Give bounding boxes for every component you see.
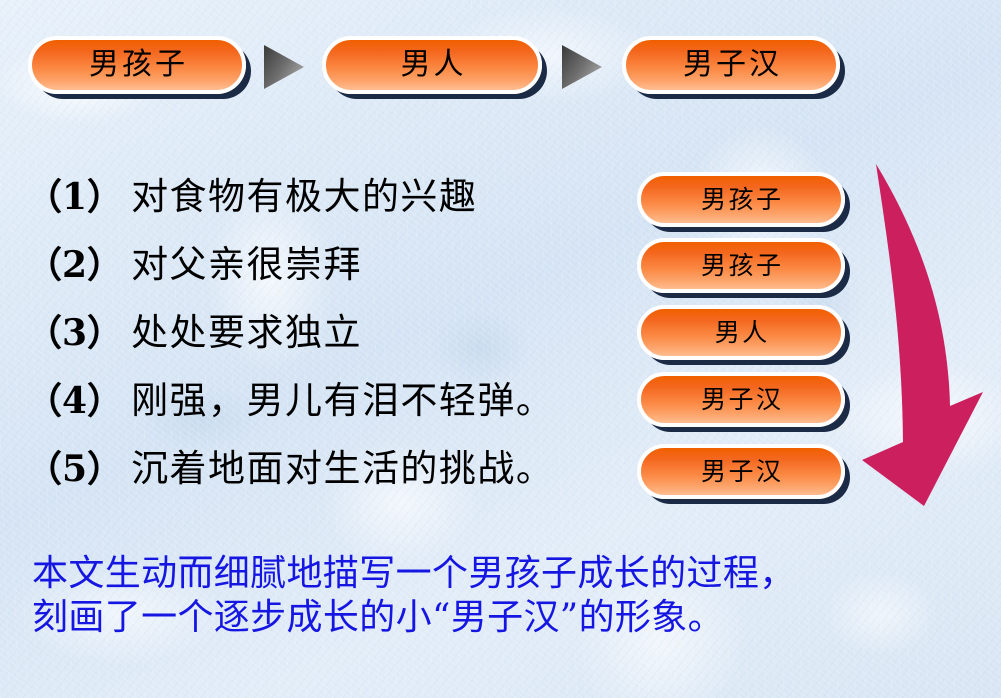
list-item: （2） 对父亲很崇拜: [26, 234, 666, 302]
list-item-number: （4）: [26, 372, 123, 424]
list-item: （4） 刚强，男儿有泪不轻弹。: [26, 370, 666, 438]
stage-pill-4-label: 男子汉: [698, 387, 783, 412]
list-item-text: 处处要求独立: [131, 302, 362, 356]
conclusion-line-1: 本文生动而细腻地描写一个男孩子成长的过程，: [32, 552, 972, 596]
list-item-text: 刚强，男儿有泪不轻弹。: [131, 370, 554, 424]
stage-pill-3[interactable]: 男人: [637, 305, 845, 360]
curved-down-arrow-icon: [852, 160, 1001, 510]
stage-pill-5-label: 男子汉: [698, 459, 783, 484]
stage-pill-2[interactable]: 男孩子: [637, 238, 845, 293]
flow-step-boy[interactable]: 男孩子: [28, 36, 246, 94]
list-item-text: 对食物有极大的兴趣: [131, 166, 477, 220]
flow-step-man-label: 男人: [398, 50, 467, 80]
conclusion-paragraph: 本文生动而细腻地描写一个男孩子成长的过程， 刻画了一个逐步成长的小“男子汉”的形…: [32, 552, 972, 640]
flow-step-man[interactable]: 男人: [322, 36, 542, 94]
flow-step-hero-label: 男子汉: [680, 50, 782, 80]
list-item: （5） 沉着地面对生活的挑战。: [26, 438, 666, 506]
list-item-text: 对父亲很崇拜: [131, 234, 362, 288]
list-item-number: （2）: [26, 236, 123, 288]
trait-list: （1） 对食物有极大的兴趣 （2） 对父亲很崇拜 （3） 处处要求独立 （4） …: [26, 166, 666, 506]
list-item: （3） 处处要求独立: [26, 302, 666, 370]
slide-canvas: 男孩子 男人: [0, 0, 1001, 698]
stage-pill-1[interactable]: 男孩子: [637, 172, 845, 227]
list-item-text: 沉着地面对生活的挑战。: [131, 438, 554, 492]
flow-step-boy-label: 男孩子: [86, 50, 188, 80]
stage-pill-1-label: 男孩子: [698, 187, 783, 212]
conclusion-line-2: 刻画了一个逐步成长的小“男子汉”的形象。: [32, 596, 972, 640]
stage-pill-2-label: 男孩子: [698, 253, 783, 278]
flow-step-hero[interactable]: 男子汉: [622, 36, 840, 94]
list-item-number: （1）: [26, 168, 123, 220]
list-item-number: （3）: [26, 304, 123, 356]
list-item: （1） 对食物有极大的兴趣: [26, 166, 666, 234]
stage-pill-5[interactable]: 男子汉: [637, 444, 845, 499]
stage-pill-4[interactable]: 男子汉: [637, 372, 845, 427]
list-item-number: （5）: [26, 440, 123, 492]
stage-pill-3-label: 男人: [712, 320, 770, 345]
